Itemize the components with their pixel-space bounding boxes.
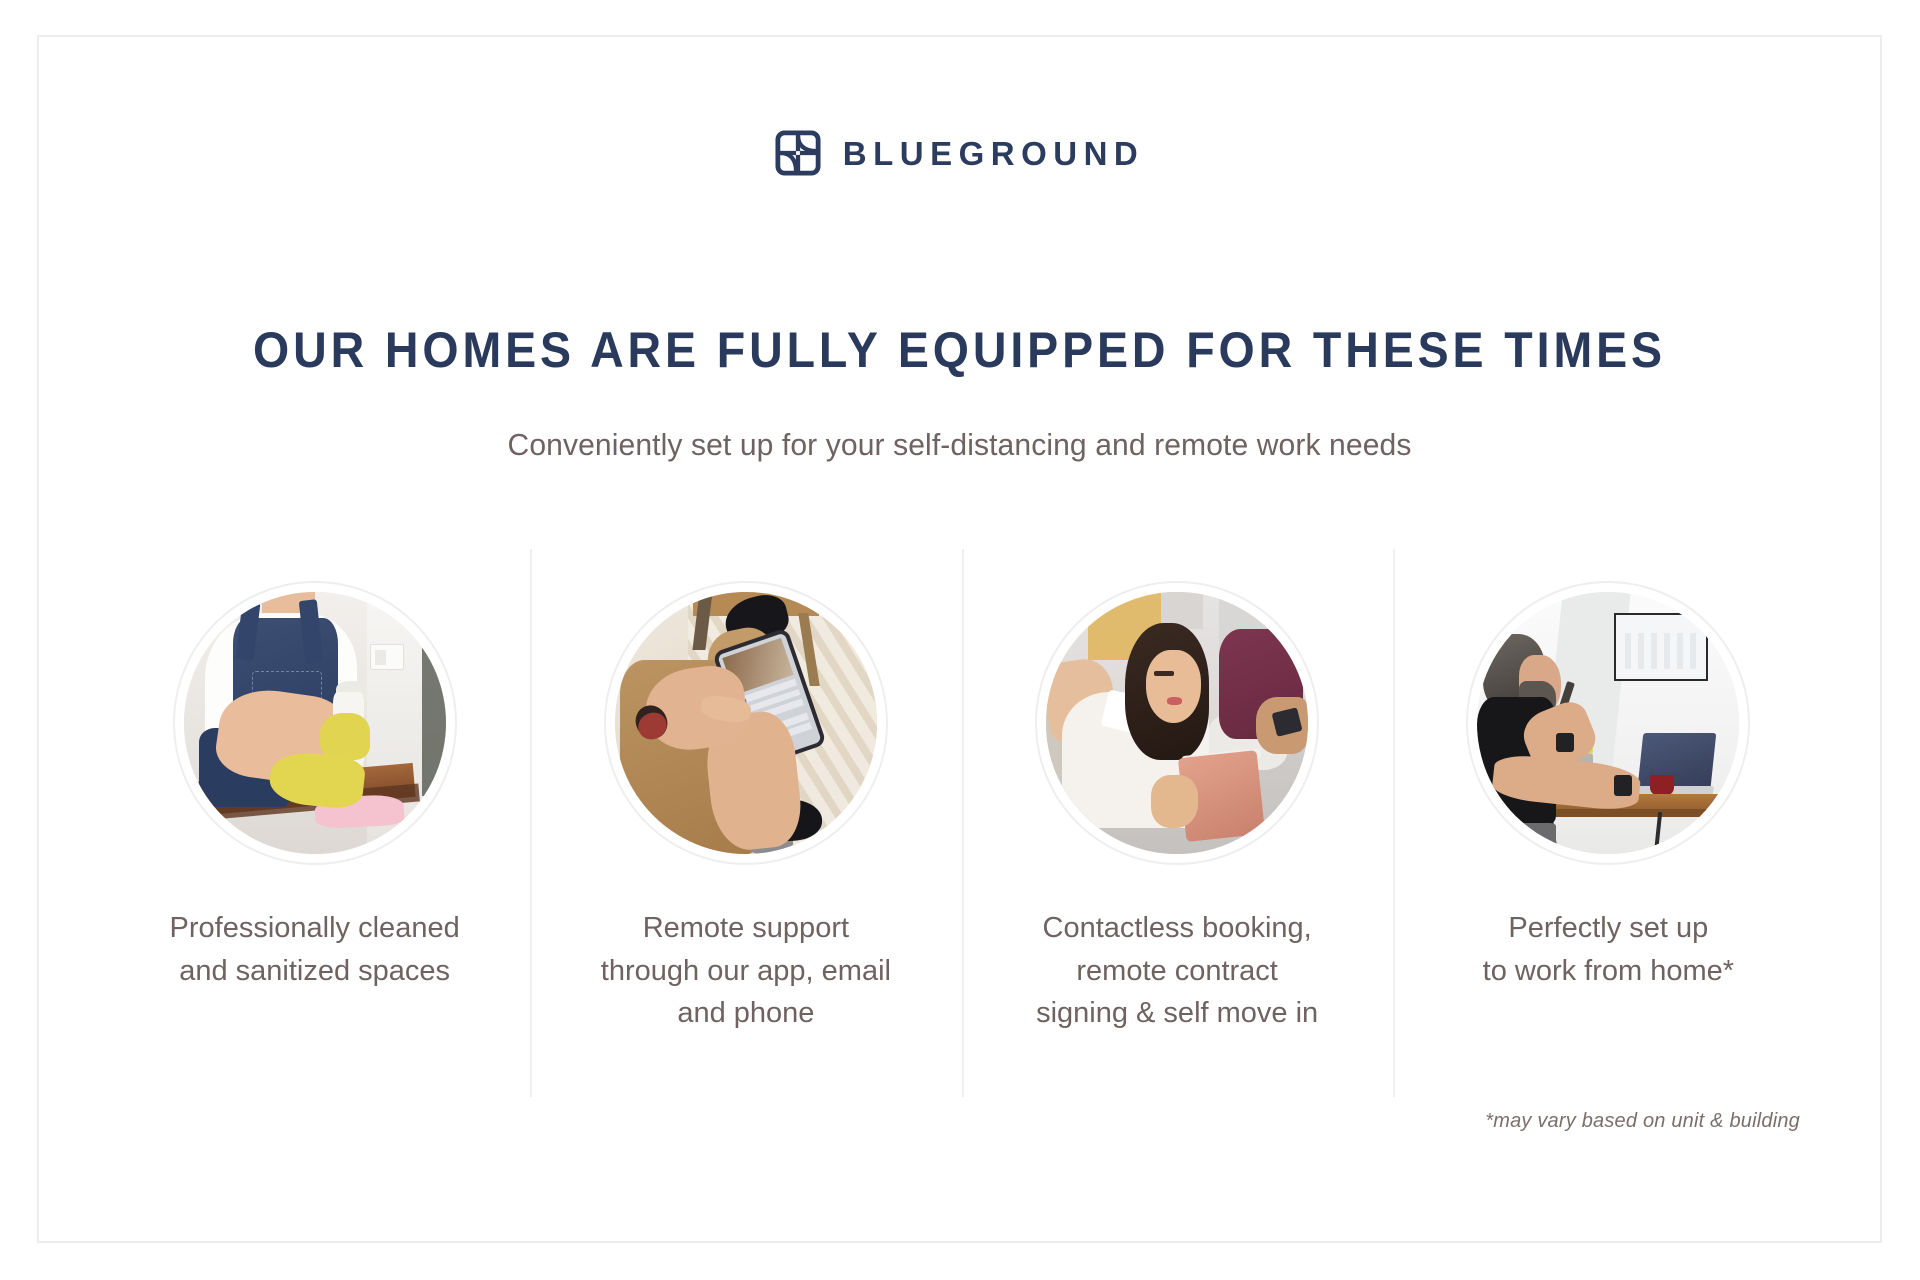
caption-line: Professionally cleaned <box>170 912 460 944</box>
caption-line: Remote support <box>643 912 849 944</box>
caption-line: Perfectly set up <box>1508 912 1708 944</box>
feature-caption: Contactless booking, remote contract sig… <box>1036 907 1318 1035</box>
work-from-home-photo <box>1477 592 1739 854</box>
caption-line: Contactless booking, <box>1043 912 1312 944</box>
cleaning-photo <box>184 592 446 854</box>
feature-image-ring <box>1466 581 1750 865</box>
feature-columns: Professionally cleaned and sanitized spa… <box>99 549 1824 1097</box>
contactless-booking-photo <box>1046 592 1308 854</box>
feature-work-from-home: Perfectly set up to work from home* <box>1393 549 1824 1097</box>
feature-caption: Professionally cleaned and sanitized spa… <box>170 907 460 992</box>
caption-line: signing & self move in <box>1036 997 1318 1029</box>
feature-contactless-booking: Contactless booking, remote contract sig… <box>962 549 1393 1097</box>
feature-image-ring <box>1035 581 1319 865</box>
caption-line: to work from home* <box>1483 955 1734 987</box>
caption-line: remote contract <box>1076 955 1277 987</box>
poster-frame: BLUEGROUND OUR HOMES ARE FULLY EQUIPPED … <box>37 35 1882 1243</box>
feature-remote-support: Remote support through our app, email an… <box>530 549 961 1097</box>
brand-lockup: BLUEGROUND <box>39 130 1880 176</box>
caption-line: and sanitized spaces <box>179 955 450 987</box>
footnote: *may vary based on unit & building <box>1485 1110 1800 1133</box>
remote-support-photo <box>615 592 877 854</box>
page-title: OUR HOMES ARE FULLY EQUIPPED FOR THESE T… <box>103 324 1815 377</box>
blueground-logo-icon <box>775 130 821 176</box>
caption-line: through our app, email <box>601 955 891 987</box>
page-subtitle: Conveniently set up for your self-distan… <box>67 426 1853 463</box>
feature-cleaning: Professionally cleaned and sanitized spa… <box>99 549 530 1097</box>
brand-wordmark: BLUEGROUND <box>843 137 1145 170</box>
feature-caption: Perfectly set up to work from home* <box>1483 907 1734 992</box>
feature-caption: Remote support through our app, email an… <box>601 907 891 1035</box>
caption-line: and phone <box>677 997 814 1029</box>
feature-image-ring <box>604 581 888 865</box>
feature-image-ring <box>173 581 457 865</box>
